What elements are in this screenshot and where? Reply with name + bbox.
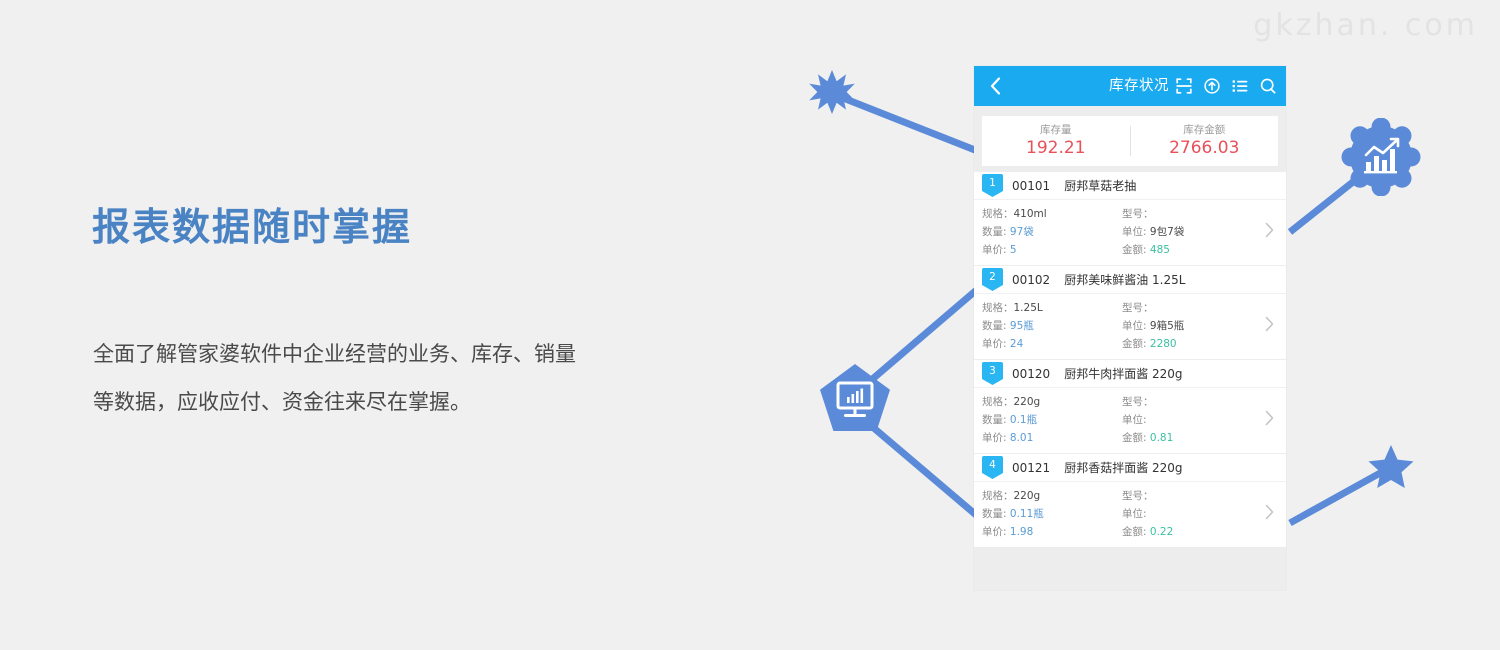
field-qty: 数量: 0.1瓶	[982, 411, 1114, 429]
field-unit-label: 单位:	[1122, 508, 1147, 520]
list-empty-area	[974, 548, 1286, 588]
field-price-label: 单价:	[982, 244, 1007, 256]
field-unit: 单位:	[1122, 411, 1256, 429]
field-qty-value: 0.1瓶	[1010, 414, 1037, 426]
field-qty: 数量: 95瓶	[982, 317, 1114, 335]
list-item-head: 1 00101 厨邦草菇老抽	[974, 172, 1286, 200]
item-left-column: 规格：1.25L 数量: 95瓶 单价: 24	[974, 299, 1114, 353]
item-name: 厨邦牛肉拌面酱 220g	[1064, 365, 1182, 382]
field-model-label: 型号：	[1122, 396, 1154, 408]
item-left-column: 规格：220g 数量: 0.1瓶 单价: 8.01	[974, 393, 1114, 447]
app-header: 库存状况	[974, 66, 1286, 106]
field-qty-label: 数量:	[982, 508, 1007, 520]
field-unit-value: 9箱5瓶	[1150, 320, 1184, 332]
item-right-column: 型号： 单位: 9包7袋 金额: 485	[1114, 205, 1256, 259]
inventory-list: 1 00101 厨邦草菇老抽 规格：410ml 数量: 97袋 单价: 5 型号…	[974, 172, 1286, 548]
field-price: 单价: 5	[982, 241, 1114, 259]
summary-label-quantity: 库存量	[982, 123, 1130, 137]
field-amount-label: 金额:	[1122, 244, 1147, 256]
item-code: 00101	[1012, 179, 1050, 193]
field-model: 型号：	[1122, 487, 1256, 505]
item-left-column: 规格：410ml 数量: 97袋 单价: 5	[974, 205, 1114, 259]
item-code: 00120	[1012, 367, 1050, 381]
field-spec-label: 规格：	[982, 302, 1014, 314]
item-left-column: 规格：220g 数量: 0.11瓶 单价: 1.98	[974, 487, 1114, 541]
field-qty-value: 0.11瓶	[1010, 508, 1044, 520]
field-unit-label: 单位:	[1122, 320, 1147, 332]
chevron-right-icon[interactable]	[1265, 504, 1286, 525]
item-name: 厨邦草菇老抽	[1064, 177, 1136, 194]
field-unit: 单位: 9包7袋	[1122, 223, 1256, 241]
field-qty-label: 数量:	[982, 320, 1007, 332]
promo-canvas: gkzhan. com 报表数据随时掌握 全面了解管家婆软件中企业经营的业务、库…	[0, 0, 1500, 650]
marketing-description: 全面了解管家婆软件中企业经营的业务、库存、销量等数据，应收应付、资金往来尽在掌握…	[93, 330, 593, 426]
rank-badge: 4	[982, 456, 1003, 479]
star-icon	[1367, 444, 1415, 490]
list-item-body: 规格：220g 数量: 0.1瓶 单价: 8.01 型号： 单位: 金额: 0.…	[974, 388, 1286, 453]
summary-value-quantity: 192.21	[982, 137, 1130, 159]
item-right-column: 型号： 单位: 金额: 0.81	[1114, 393, 1256, 447]
list-item[interactable]: 4 00121 厨邦香菇拌面酱 220g 规格：220g 数量: 0.11瓶 单…	[974, 454, 1286, 548]
field-amount-value: 0.81	[1150, 432, 1173, 444]
list-item-head: 2 00102 厨邦美味鲜酱油 1.25L	[974, 266, 1286, 294]
field-qty-value: 97袋	[1010, 226, 1034, 238]
field-model: 型号：	[1122, 205, 1256, 223]
page-title: 报表数据随时掌握	[92, 196, 412, 251]
field-price-value: 8.01	[1010, 432, 1033, 444]
list-item[interactable]: 3 00120 厨邦牛肉拌面酱 220g 规格：220g 数量: 0.1瓶 单价…	[974, 360, 1286, 454]
field-spec-value: 1.25L	[1014, 302, 1043, 314]
summary-label-amount: 库存金额	[1131, 123, 1279, 137]
field-spec-value: 410ml	[1014, 208, 1047, 220]
bar-chart-trend-badge-icon	[1341, 118, 1421, 196]
field-amount-label: 金额:	[1122, 526, 1147, 538]
site-watermark: gkzhan. com	[1253, 8, 1478, 43]
field-unit-value: 9包7袋	[1150, 226, 1184, 238]
field-amount-value: 2280	[1150, 338, 1177, 350]
field-unit: 单位: 9箱5瓶	[1122, 317, 1256, 335]
field-price-value: 1.98	[1010, 526, 1033, 538]
field-spec-label: 规格：	[982, 490, 1014, 502]
list-item-head: 4 00121 厨邦香菇拌面酱 220g	[974, 454, 1286, 482]
list-item-head: 3 00120 厨邦牛肉拌面酱 220g	[974, 360, 1286, 388]
chevron-right-icon[interactable]	[1265, 410, 1286, 431]
header-icon-group	[1175, 78, 1276, 95]
field-amount: 金额: 0.81	[1122, 429, 1256, 447]
phone-mockup: 库存状况	[974, 66, 1286, 590]
field-price-label: 单价:	[982, 526, 1007, 538]
list-item-body: 规格：410ml 数量: 97袋 单价: 5 型号： 单位: 9包7袋 金额: …	[974, 200, 1286, 265]
field-spec: 规格：220g	[982, 487, 1114, 505]
field-amount: 金额: 2280	[1122, 335, 1256, 353]
item-name: 厨邦香菇拌面酱 220g	[1064, 459, 1182, 476]
field-qty-value: 95瓶	[1010, 320, 1034, 332]
search-icon[interactable]	[1259, 78, 1276, 95]
rank-badge: 2	[982, 268, 1003, 291]
field-spec: 规格：410ml	[982, 205, 1114, 223]
field-spec-value: 220g	[1014, 396, 1041, 408]
field-price-value: 5	[1010, 244, 1017, 256]
summary-cell-amount: 库存金额 2766.03	[1131, 123, 1279, 159]
item-code: 00121	[1012, 461, 1050, 475]
chevron-right-icon[interactable]	[1265, 316, 1286, 337]
field-price-label: 单价:	[982, 338, 1007, 350]
field-unit: 单位:	[1122, 505, 1256, 523]
summary-value-amount: 2766.03	[1131, 137, 1279, 159]
field-qty-label: 数量:	[982, 226, 1007, 238]
field-spec-label: 规格：	[982, 396, 1014, 408]
field-qty: 数量: 0.11瓶	[982, 505, 1114, 523]
scan-frame-icon[interactable]	[1175, 78, 1192, 95]
field-spec-label: 规格：	[982, 208, 1014, 220]
list-item-body: 规格：220g 数量: 0.11瓶 单价: 1.98 型号： 单位: 金额: 0…	[974, 482, 1286, 547]
item-code: 00102	[1012, 273, 1050, 287]
field-amount-value: 485	[1150, 244, 1170, 256]
field-unit-label: 单位:	[1122, 414, 1147, 426]
field-spec: 规格：1.25L	[982, 299, 1114, 317]
field-price: 单价: 24	[982, 335, 1114, 353]
list-item-body: 规格：1.25L 数量: 95瓶 单价: 24 型号： 单位: 9箱5瓶 金额:…	[974, 294, 1286, 359]
starburst-icon	[808, 68, 856, 116]
field-qty-label: 数量:	[982, 414, 1007, 426]
field-price: 单价: 8.01	[982, 429, 1114, 447]
field-model: 型号：	[1122, 393, 1256, 411]
field-amount: 金额: 485	[1122, 241, 1256, 259]
field-qty: 数量: 97袋	[982, 223, 1114, 241]
item-right-column: 型号： 单位: 金额: 0.22	[1114, 487, 1256, 541]
field-model-label: 型号：	[1122, 302, 1154, 314]
arrow-up-circle-icon[interactable]	[1203, 78, 1220, 95]
back-chevron-icon[interactable]	[984, 75, 1006, 97]
field-spec: 规格：220g	[982, 393, 1114, 411]
field-price-label: 单价:	[982, 432, 1007, 444]
inventory-summary-card: 库存量 192.21 库存金额 2766.03	[982, 116, 1278, 166]
field-price: 单价: 1.98	[982, 523, 1114, 541]
list-icon[interactable]	[1231, 78, 1248, 95]
monitor-chart-badge-icon	[818, 363, 892, 435]
field-amount-label: 金额:	[1122, 338, 1147, 350]
item-name: 厨邦美味鲜酱油 1.25L	[1064, 271, 1185, 288]
summary-cell-quantity: 库存量 192.21	[982, 123, 1130, 159]
field-model: 型号：	[1122, 299, 1256, 317]
chevron-right-icon[interactable]	[1265, 222, 1286, 243]
rank-badge: 3	[982, 362, 1003, 385]
field-amount: 金额: 0.22	[1122, 523, 1256, 541]
list-item[interactable]: 2 00102 厨邦美味鲜酱油 1.25L 规格：1.25L 数量: 95瓶 单…	[974, 266, 1286, 360]
field-model-label: 型号：	[1122, 208, 1154, 220]
field-amount-label: 金额:	[1122, 432, 1147, 444]
list-item[interactable]: 1 00101 厨邦草菇老抽 规格：410ml 数量: 97袋 单价: 5 型号…	[974, 172, 1286, 266]
field-unit-label: 单位:	[1122, 226, 1147, 238]
field-amount-value: 0.22	[1150, 526, 1173, 538]
field-model-label: 型号：	[1122, 490, 1154, 502]
item-right-column: 型号： 单位: 9箱5瓶 金额: 2280	[1114, 299, 1256, 353]
connector-line-top	[838, 96, 980, 152]
rank-badge: 1	[982, 174, 1003, 197]
field-price-value: 24	[1010, 338, 1023, 350]
field-spec-value: 220g	[1014, 490, 1041, 502]
